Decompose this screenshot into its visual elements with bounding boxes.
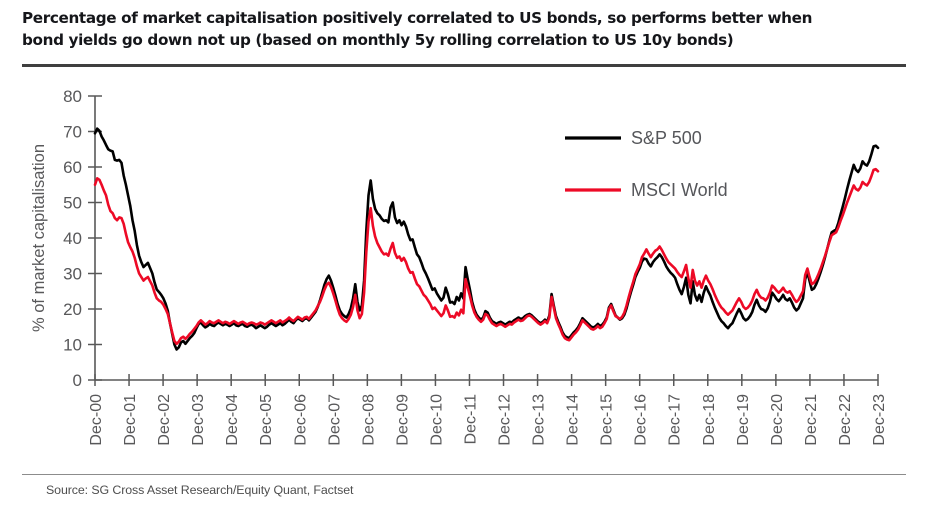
y-tick-label: 80	[63, 87, 82, 106]
y-tick-label: 20	[63, 300, 82, 319]
x-tick-label: Dec-22	[837, 394, 854, 446]
x-tick-label: Dec-14	[565, 394, 582, 446]
y-tick-label: 10	[63, 336, 82, 355]
x-tick-label: Dec-20	[769, 394, 786, 446]
source-note: Source: SG Cross Asset Research/Equity Q…	[46, 483, 353, 497]
x-tick-label: Dec-08	[360, 394, 377, 446]
x-tick-label: Dec-04	[224, 394, 241, 446]
x-tick-label: Dec-13	[531, 394, 548, 446]
y-tick-label: 30	[63, 265, 82, 284]
y-tick-label: 0	[73, 371, 82, 390]
title-block: Percentage of market capitalisation posi…	[22, 8, 906, 51]
y-tick-label: 50	[63, 194, 82, 213]
x-tick-label: Dec-15	[599, 394, 616, 446]
x-tick-label: Dec-21	[803, 394, 820, 446]
x-tick-label: Dec-18	[701, 394, 718, 446]
chart-figure: Percentage of market capitalisation posi…	[0, 0, 926, 518]
y-axis-label: % of market capitalisation	[30, 144, 48, 332]
title-divider	[22, 64, 906, 67]
x-tick-label: Dec-12	[497, 394, 514, 446]
x-tick-label: Dec-05	[258, 394, 275, 446]
source-divider	[22, 474, 906, 475]
x-tick-label: Dec-02	[156, 394, 173, 446]
series-lines	[95, 129, 878, 350]
line-chart-svg: 01020304050607080 Dec-00Dec-01Dec-02Dec-…	[0, 74, 926, 470]
x-tick-label: Dec-10	[428, 394, 445, 446]
x-tick-label: Dec-07	[326, 394, 343, 446]
y-tick-label: 40	[63, 229, 82, 248]
series-line-s-p-500	[95, 129, 878, 350]
x-tick-label: Dec-03	[190, 394, 207, 446]
x-tick-label: Dec-17	[667, 394, 684, 446]
series-line-msci-world	[95, 169, 878, 344]
x-tick-label: Dec-06	[292, 394, 309, 446]
x-tick-label: Dec-11	[462, 394, 479, 444]
x-tick-label: Dec-09	[394, 394, 411, 446]
x-tick-label: Dec-23	[871, 394, 888, 446]
x-tick-label: Dec-16	[633, 394, 650, 446]
legend-label: S&P 500	[631, 128, 702, 148]
x-tick-label: Dec-01	[122, 394, 139, 446]
y-tick-label: 60	[63, 158, 82, 177]
x-tick-label: Dec-19	[735, 394, 752, 446]
legend-label: MSCI World	[631, 180, 728, 200]
x-axis: Dec-00Dec-01Dec-02Dec-03Dec-04Dec-05Dec-…	[88, 374, 888, 446]
x-tick-label: Dec-00	[88, 394, 105, 446]
plot-area: 01020304050607080 Dec-00Dec-01Dec-02Dec-…	[0, 74, 926, 470]
page-title: Percentage of market capitalisation posi…	[22, 8, 906, 51]
chart-legend: S&P 500MSCI World	[565, 128, 728, 200]
y-tick-label: 70	[63, 123, 82, 142]
